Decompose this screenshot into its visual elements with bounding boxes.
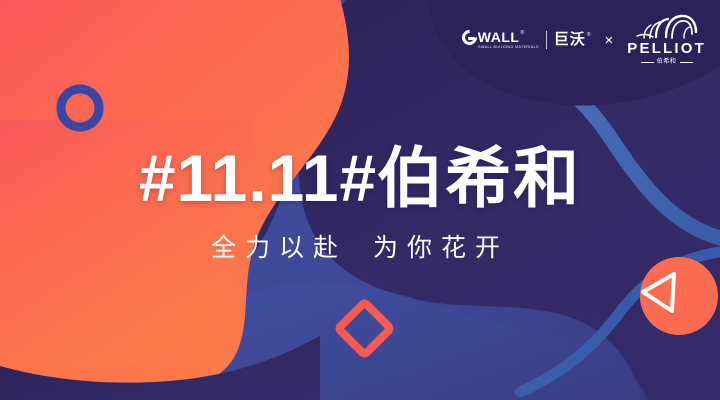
gwall-g-icon bbox=[459, 27, 480, 48]
pelliot-wordmark-text: PELLIOT bbox=[627, 41, 706, 57]
gwall-wordmark: WALL ® bbox=[462, 30, 524, 45]
logo-bar: WALL ® GWALL BUILDING MATERIALS 巨沃 ® × bbox=[462, 14, 706, 66]
pelliot-logo: PELLIOT 伯希和 bbox=[627, 14, 706, 66]
logo-divider bbox=[546, 31, 547, 49]
headline-hashtag: #11.11# bbox=[139, 141, 377, 215]
pelliot-rule-left bbox=[641, 62, 654, 63]
subtitle-right: 为你花开 bbox=[373, 234, 509, 262]
pelliot-cn-row: 伯希和 bbox=[641, 59, 693, 66]
juwo-logo: 巨沃 ® bbox=[554, 32, 591, 48]
headline: #11.11#伯希和 bbox=[0, 142, 720, 214]
gwall-logo: WALL ® GWALL BUILDING MATERIALS 巨沃 ® bbox=[462, 30, 591, 50]
gwall-lockup: WALL ® GWALL BUILDING MATERIALS bbox=[462, 30, 539, 50]
headline-brand: 伯希和 bbox=[377, 141, 581, 215]
juwo-registered-mark: ® bbox=[587, 32, 591, 38]
pelliot-wave-icon bbox=[636, 14, 698, 40]
pelliot-cn-text: 伯希和 bbox=[657, 59, 677, 66]
juwo-wordmark-text: 巨沃 bbox=[554, 32, 586, 48]
subtitle-left: 全力以赴 bbox=[211, 234, 347, 262]
promo-banner: WALL ® GWALL BUILDING MATERIALS 巨沃 ® × bbox=[0, 0, 720, 400]
gwall-registered-mark: ® bbox=[520, 30, 524, 36]
gwall-wordmark-text: WALL bbox=[478, 30, 520, 45]
subtitle: 全力以赴为你花开 bbox=[0, 232, 720, 264]
pelliot-rule-right bbox=[680, 62, 693, 63]
gwall-subtext: GWALL BUILDING MATERIALS bbox=[478, 46, 539, 50]
cross-icon: × bbox=[605, 33, 614, 48]
